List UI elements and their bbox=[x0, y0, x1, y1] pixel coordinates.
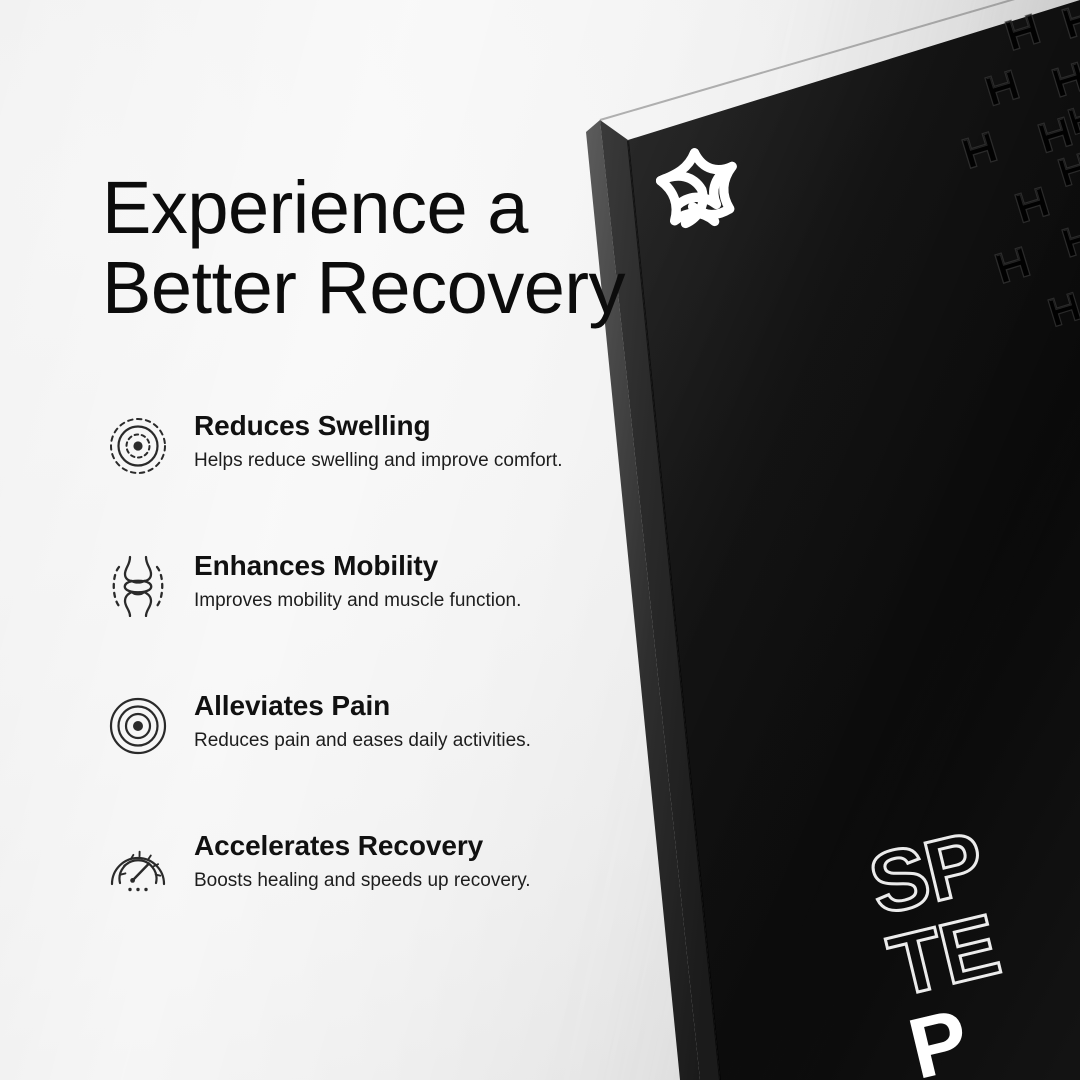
feature-title: Enhances Mobility bbox=[194, 550, 660, 581]
feature-item-enhances-mobility: Enhances Mobility Improves mobility and … bbox=[100, 544, 660, 684]
knee-joint-mobility-icon bbox=[100, 548, 176, 624]
promo-canvas: SP TE P Experience a Better Recovery bbox=[0, 0, 1080, 1080]
feature-item-accelerates-recovery: Accelerates Recovery Boosts healing and … bbox=[100, 824, 660, 964]
feature-description: Helps reduce swelling and improve comfor… bbox=[194, 449, 660, 473]
feature-item-alleviates-pain: Alleviates Pain Reduces pain and eases d… bbox=[100, 684, 660, 824]
swelling-rings-icon bbox=[100, 408, 176, 484]
feature-description: Improves mobility and muscle function. bbox=[194, 589, 660, 613]
speedometer-gauge-icon bbox=[100, 828, 176, 904]
target-pain-icon bbox=[100, 688, 176, 764]
feature-title: Accelerates Recovery bbox=[194, 830, 660, 861]
feature-title: Reduces Swelling bbox=[194, 410, 660, 441]
feature-description: Boosts healing and speeds up recovery. bbox=[194, 869, 660, 893]
feature-title: Alleviates Pain bbox=[194, 690, 660, 721]
content-column: Experience a Better Recovery Reduces Swe… bbox=[100, 0, 660, 1080]
page-title: Experience a Better Recovery bbox=[102, 168, 625, 328]
feature-description: Reduces pain and eases daily activities. bbox=[194, 729, 660, 753]
feature-list: Reduces Swelling Helps reduce swelling a… bbox=[100, 404, 660, 964]
feature-item-reduces-swelling: Reduces Swelling Helps reduce swelling a… bbox=[100, 404, 660, 544]
